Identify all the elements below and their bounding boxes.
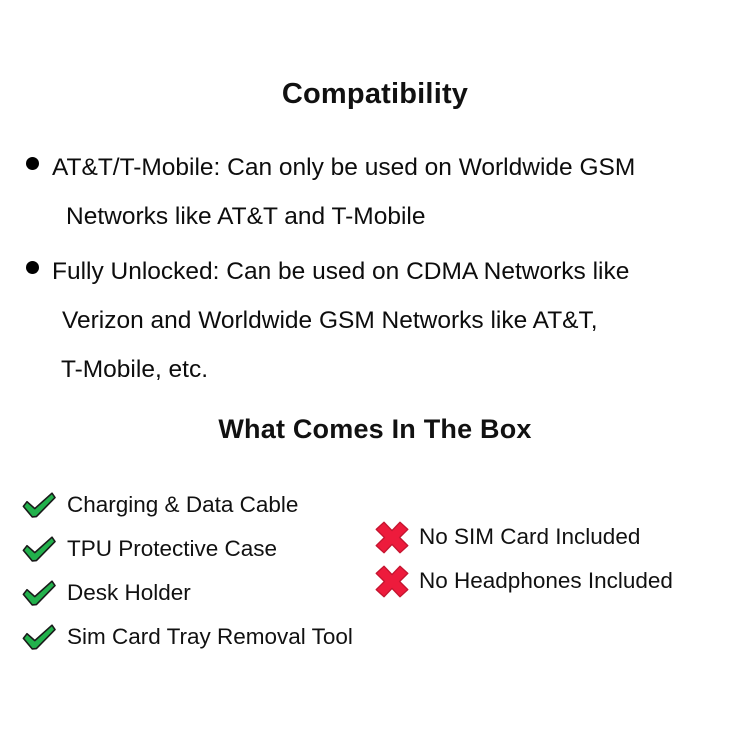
compatibility-bullet-att-tmobile: AT&T/T-Mobile: Can only be used on World… <box>26 143 736 241</box>
compatibility-bullet-fully-unlocked: Fully Unlocked: Can be used on CDMA Netw… <box>26 247 736 394</box>
box-contents-heading: What Comes In The Box <box>0 414 750 445</box>
green-check-icon <box>22 534 56 564</box>
green-check-icon <box>22 490 56 520</box>
included-items-list: Charging & Data Cable TPU Protective Cas… <box>22 483 353 659</box>
compatibility-list: AT&T/T-Mobile: Can only be used on World… <box>26 143 736 400</box>
list-item-label: TPU Protective Case <box>67 536 277 562</box>
bullet-text: Fully Unlocked: Can be used on CDMA Netw… <box>52 247 629 296</box>
excluded-items-list: No SIM Card Included No Headphones Inclu… <box>375 515 673 603</box>
bullet-continuation-line: Verizon and Worldwide GSM Networks like … <box>26 296 736 345</box>
bullet-line: Fully Unlocked: Can be used on CDMA Netw… <box>26 247 736 296</box>
list-item: TPU Protective Case <box>22 527 353 571</box>
bullet-continuation-line: Networks like AT&T and T-Mobile <box>26 192 736 241</box>
bullet-line: AT&T/T-Mobile: Can only be used on World… <box>26 143 736 192</box>
bullet-text: AT&T/T-Mobile: Can only be used on World… <box>52 143 635 192</box>
red-cross-icon <box>375 565 409 598</box>
list-item: Charging & Data Cable <box>22 483 353 527</box>
list-item-label: Sim Card Tray Removal Tool <box>67 624 353 650</box>
bullet-dot-icon <box>26 157 39 170</box>
list-item: No SIM Card Included <box>375 515 673 559</box>
list-item-label: No SIM Card Included <box>419 524 640 550</box>
red-cross-icon <box>375 521 409 554</box>
list-item: Desk Holder <box>22 571 353 615</box>
list-item: No Headphones Included <box>375 559 673 603</box>
compatibility-heading: Compatibility <box>0 78 750 111</box>
bullet-continuation-line: T-Mobile, etc. <box>26 345 736 394</box>
list-item-label: Desk Holder <box>67 580 191 606</box>
green-check-icon <box>22 578 56 608</box>
product-info-graphic: Compatibility AT&T/T-Mobile: Can only be… <box>0 0 750 750</box>
list-item-label: No Headphones Included <box>419 568 673 594</box>
bullet-dot-icon <box>26 261 39 274</box>
list-item-label: Charging & Data Cable <box>67 492 298 518</box>
green-check-icon <box>22 622 56 652</box>
list-item: Sim Card Tray Removal Tool <box>22 615 353 659</box>
